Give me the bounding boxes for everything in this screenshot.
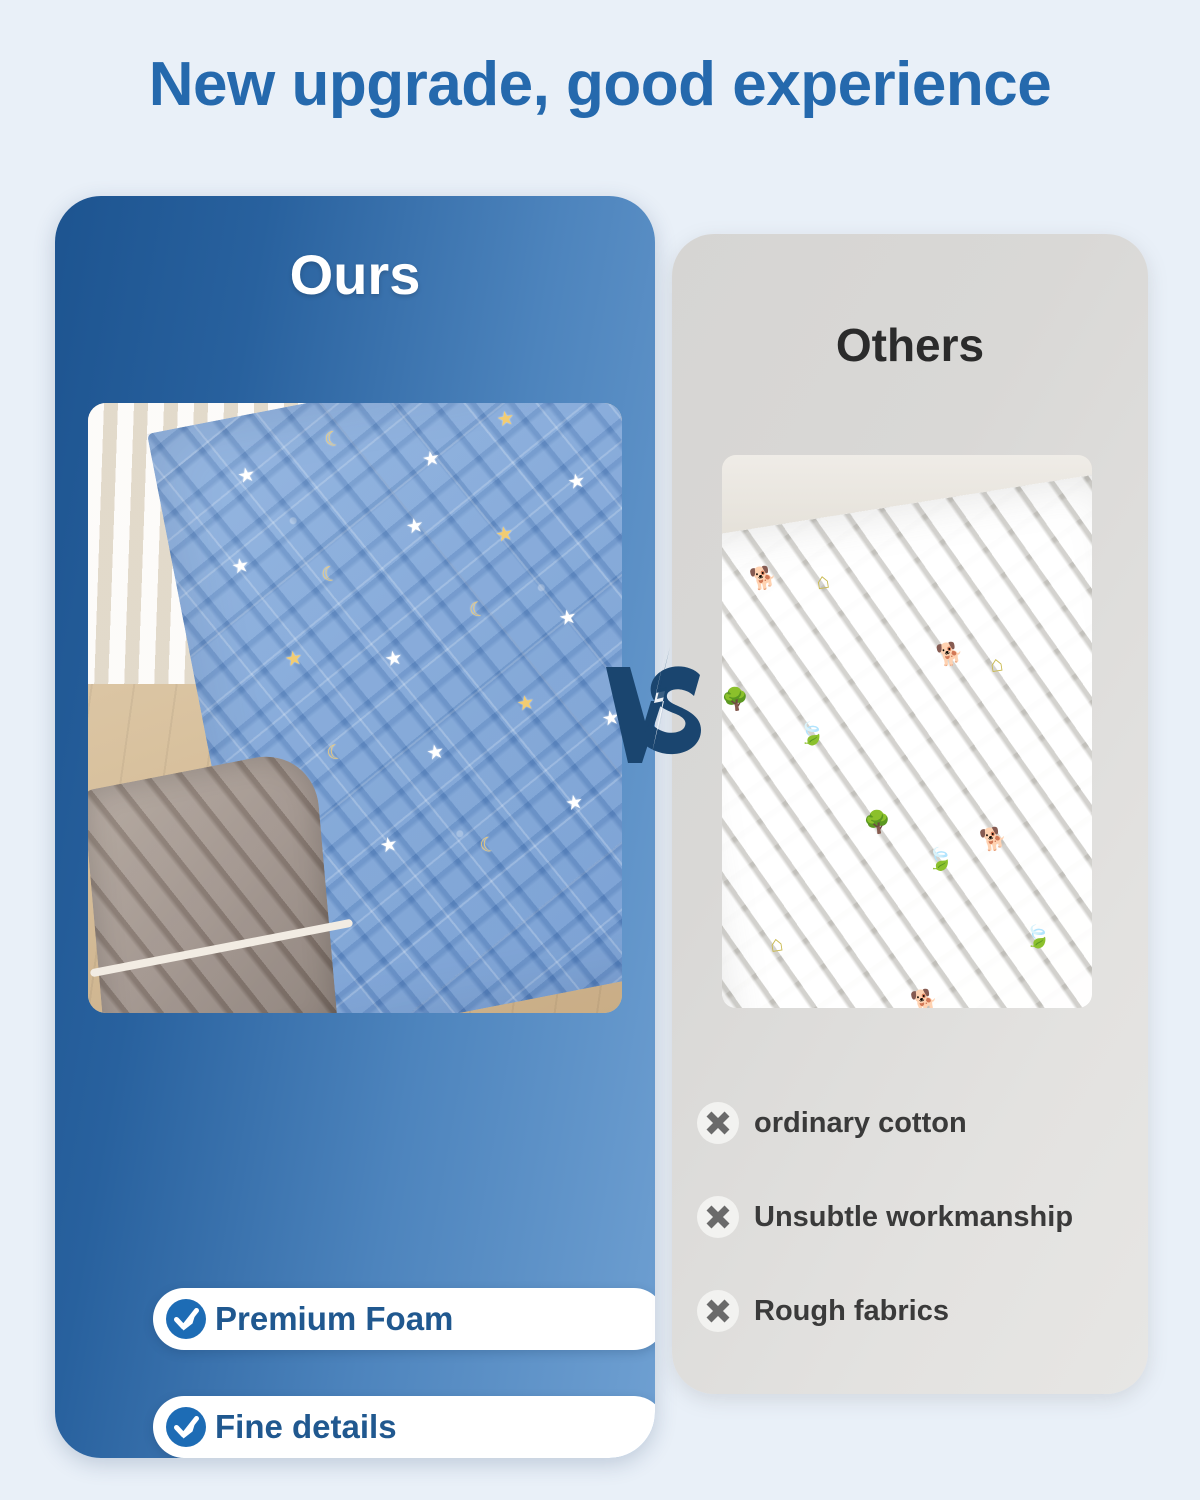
x-circle-icon bbox=[696, 1289, 740, 1333]
star-motif: ★ bbox=[378, 833, 399, 856]
feature-pill-fine-details[interactable]: Fine details bbox=[153, 1396, 655, 1458]
star-motif: ★ bbox=[515, 691, 536, 714]
ours-product-photo: ★ ☾ ★ ★ ★ ☾ ★ ★ ★ ★ ★ ☾ ★ ☾ ★ ★ ★ bbox=[88, 403, 622, 1013]
leaf-motif: 🍃 bbox=[797, 721, 828, 747]
x-circle-icon bbox=[696, 1195, 740, 1239]
comparison-infographic: New upgrade, good experience Ours ★ ☾ ★ … bbox=[0, 0, 1200, 1500]
dog-motif: 🐕 bbox=[910, 988, 941, 1008]
house-motif: ⌂ bbox=[989, 652, 1006, 676]
drawback-row-rough-fabrics[interactable]: Rough fabrics bbox=[696, 1286, 949, 1336]
others-title: Others bbox=[672, 318, 1148, 372]
house-motif: ⌂ bbox=[815, 569, 832, 593]
star-motif: ★ bbox=[563, 791, 584, 814]
tree-motif: 🌳 bbox=[722, 687, 751, 713]
star-motif: ★ bbox=[404, 514, 425, 537]
check-circle-icon bbox=[165, 1298, 207, 1340]
star-motif: ★ bbox=[383, 647, 404, 670]
leaf-motif: 🍃 bbox=[925, 846, 956, 872]
star-motif: ★ bbox=[236, 464, 257, 487]
check-circle-icon bbox=[165, 1406, 207, 1448]
star-motif: ★ bbox=[557, 606, 578, 629]
ours-title: Ours bbox=[55, 242, 655, 307]
drawback-label: Unsubtle workmanship bbox=[754, 1201, 1073, 1234]
star-motif: ★ bbox=[566, 470, 587, 493]
leaf-motif: 🍃 bbox=[1023, 924, 1054, 950]
star-motif: ★ bbox=[495, 407, 516, 430]
dog-motif: 🐕 bbox=[979, 826, 1010, 852]
star-motif: ★ bbox=[494, 523, 515, 546]
white-quilted-mat: 🐕 ⌂ 🌳 🍃 🐕 ⌂ 🌳 🍃 🐕 🍃 ⌂ 🐕 bbox=[722, 472, 1092, 1008]
moon-motif: ☾ bbox=[467, 598, 488, 621]
moon-motif: ☾ bbox=[478, 833, 499, 856]
mat-gray-underside bbox=[88, 746, 338, 1013]
ours-panel: Ours ★ ☾ ★ ★ ★ ☾ ★ ★ ★ ★ ★ ☾ bbox=[55, 196, 655, 1458]
ours-photo-scene: ★ ☾ ★ ★ ★ ☾ ★ ★ ★ ★ ★ ☾ ★ ☾ ★ ★ ★ bbox=[88, 403, 622, 1013]
page-title: New upgrade, good experience bbox=[0, 52, 1200, 117]
others-photo-scene: 🐕 ⌂ 🌳 🍃 🐕 ⌂ 🌳 🍃 🐕 🍃 ⌂ 🐕 bbox=[722, 455, 1092, 1008]
drawback-label: Rough fabrics bbox=[754, 1295, 949, 1328]
feature-pill-premium-foam[interactable]: Premium Foam bbox=[153, 1288, 655, 1350]
dog-motif: 🐕 bbox=[935, 641, 966, 667]
drawback-row-ordinary-cotton[interactable]: ordinary cotton bbox=[696, 1098, 967, 1148]
house-motif: ⌂ bbox=[769, 932, 786, 956]
x-circle-icon bbox=[696, 1101, 740, 1145]
drawback-label: ordinary cotton bbox=[754, 1107, 967, 1140]
moon-motif: ☾ bbox=[319, 563, 340, 586]
tree-motif: 🌳 bbox=[863, 810, 894, 836]
others-product-photo: 🐕 ⌂ 🌳 🍃 🐕 ⌂ 🌳 🍃 🐕 🍃 ⌂ 🐕 bbox=[722, 455, 1092, 1008]
feature-pill-label: Premium Foam bbox=[215, 1300, 453, 1338]
dog-motif: 🐕 bbox=[749, 566, 780, 592]
star-motif: ★ bbox=[425, 741, 446, 764]
star-motif: ★ bbox=[420, 447, 441, 470]
star-motif: ★ bbox=[230, 555, 251, 578]
star-motif: ★ bbox=[283, 647, 304, 670]
drawback-row-unsubtle-workmanship[interactable]: Unsubtle workmanship bbox=[696, 1192, 1073, 1242]
moon-motif: ☾ bbox=[323, 428, 344, 451]
moon-motif: ☾ bbox=[325, 741, 346, 764]
vs-badge bbox=[604, 645, 708, 765]
feature-pill-label: Fine details bbox=[215, 1408, 397, 1446]
